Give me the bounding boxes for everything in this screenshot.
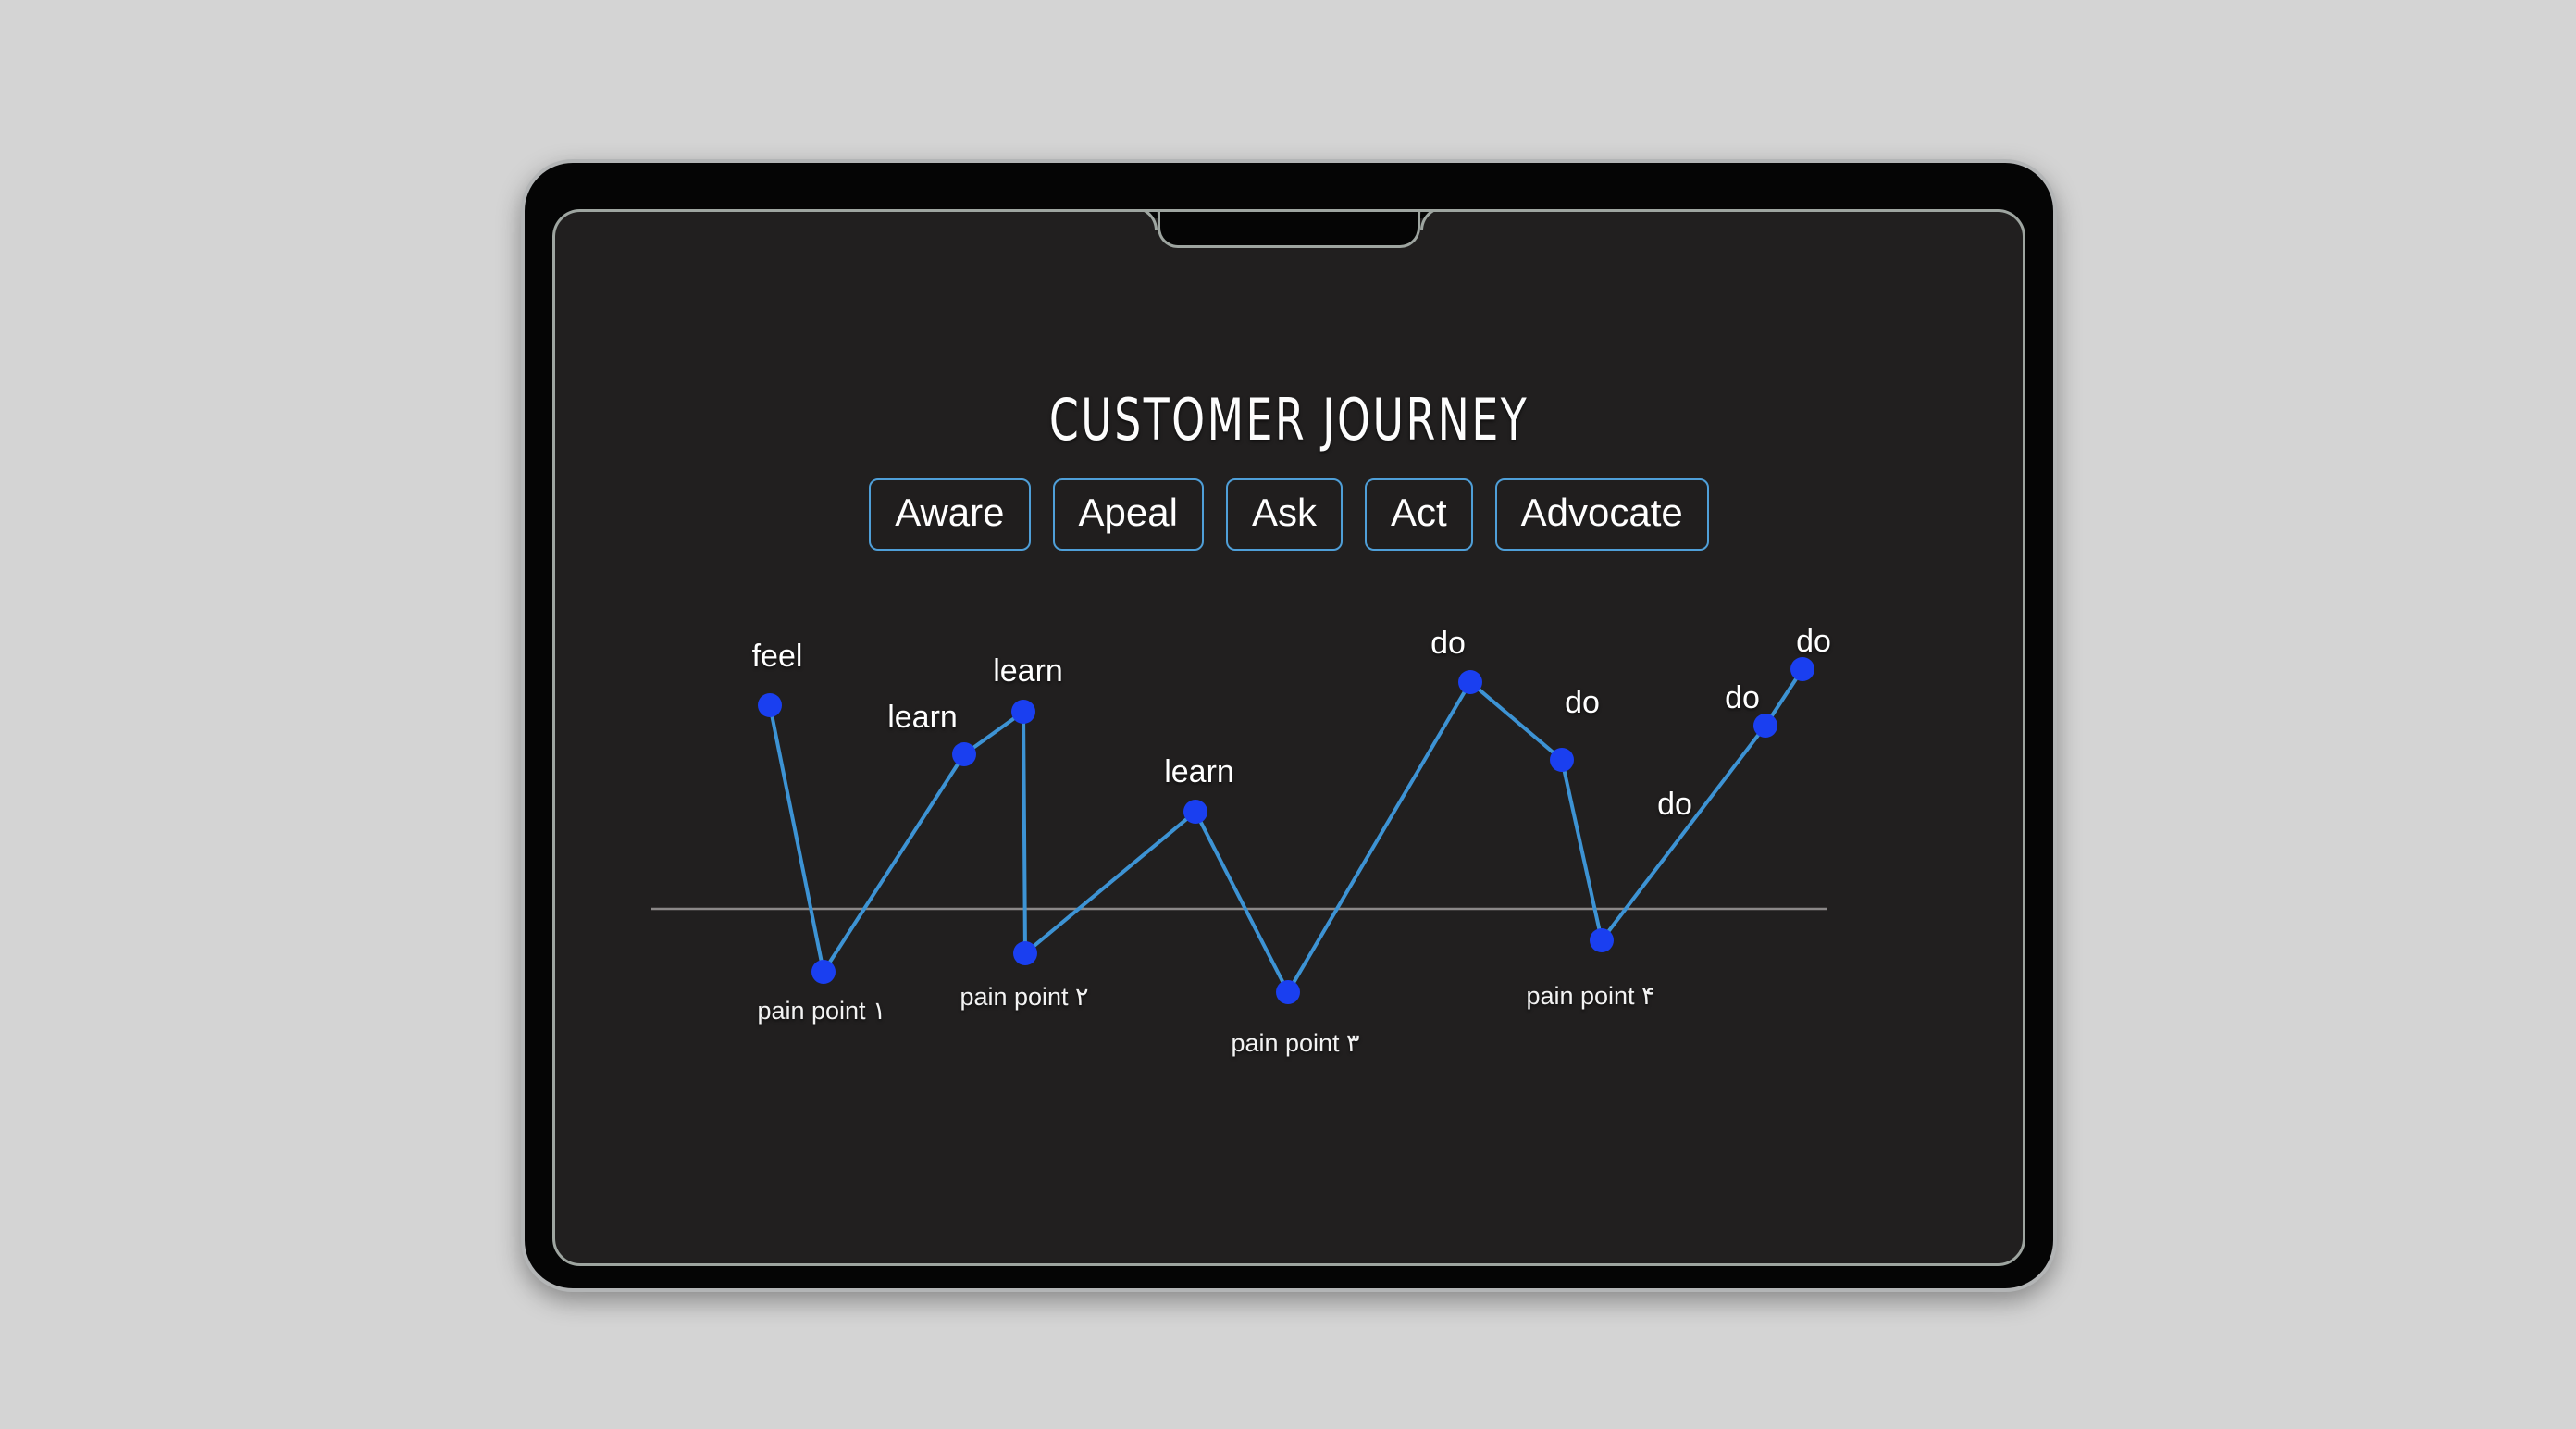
journey-line-chart: feelpain point ۱learnlearnpain point ۲le… xyxy=(555,212,2025,1266)
pain-point-label: pain point ۲ xyxy=(960,983,1088,1012)
tablet-device: CUSTOMER JOURNEY Aware Apeal Ask Act Adv… xyxy=(521,159,2057,1292)
data-point-dot[interactable] xyxy=(952,742,976,766)
data-point-dot[interactable] xyxy=(1011,700,1035,724)
data-point-dot[interactable] xyxy=(758,693,782,717)
data-point-dot[interactable] xyxy=(1183,800,1207,824)
pain-point-label: pain point ۳ xyxy=(1231,1029,1359,1058)
screen-content: CUSTOMER JOURNEY Aware Apeal Ask Act Adv… xyxy=(555,212,2023,1263)
stage-action-label: learn xyxy=(887,700,958,736)
journey-chart-svg xyxy=(555,212,2025,1266)
stage-action-label: learn xyxy=(1164,754,1234,790)
pain-point-label: pain point ۴ xyxy=(1526,982,1654,1011)
data-point-dot[interactable] xyxy=(1013,941,1037,965)
tablet-screen: CUSTOMER JOURNEY Aware Apeal Ask Act Adv… xyxy=(552,209,2025,1266)
data-point-dot[interactable] xyxy=(811,960,836,984)
stage-action-label: do xyxy=(1657,787,1692,823)
stage-action-label: do xyxy=(1725,680,1760,716)
data-point-dot[interactable] xyxy=(1550,748,1574,772)
pain-point-label: pain point ۱ xyxy=(757,997,885,1025)
data-point-dot[interactable] xyxy=(1458,670,1482,694)
stage-action-label: do xyxy=(1796,624,1831,660)
data-point-dot[interactable] xyxy=(1590,928,1614,952)
camera-notch-icon xyxy=(1158,209,1420,248)
stage-action-label: do xyxy=(1565,685,1600,721)
data-point-dot[interactable] xyxy=(1753,714,1777,738)
data-point-dot[interactable] xyxy=(1790,657,1814,681)
stage-action-label: do xyxy=(1430,626,1466,662)
stage-action-label: learn xyxy=(993,653,1063,690)
stage-action-label: feel xyxy=(752,639,803,675)
data-point-dot[interactable] xyxy=(1276,980,1300,1004)
